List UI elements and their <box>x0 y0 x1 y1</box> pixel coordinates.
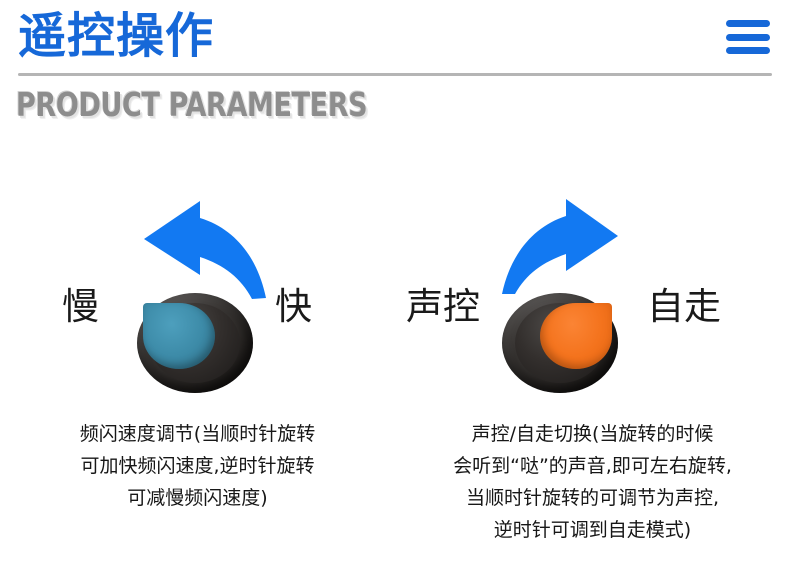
page-header: 遥控操作 <box>0 0 790 76</box>
caption-line: 会听到“哒”的声音,即可左右旋转, <box>395 450 790 482</box>
caption-line: 当顺时针旋转的可调节为声控, <box>395 482 790 514</box>
menu-bar-top <box>726 20 770 27</box>
caption-line: 可加快频闪速度,逆时针旋转 <box>0 450 395 482</box>
rotary-knob-icon[interactable] <box>137 293 253 393</box>
caption-line: 逆时针可调到自走模式) <box>395 514 790 546</box>
knob-pointer <box>540 303 612 369</box>
knob-label-voice-control: 声控 <box>406 285 480 329</box>
rotary-knob-icon[interactable] <box>502 293 618 393</box>
header-divider <box>18 73 772 76</box>
panel-strobe-speed: 慢 快 频闪速度调节(当顺时针旋转 可加快频闪速度,逆时针旋转 可减慢频闪速度) <box>0 150 395 562</box>
panel-voice-auto-switch: 声控 自走 声控/自走切换(当旋转的时候 会听到“哒”的声音,即可左右旋转, 当… <box>395 150 790 562</box>
menu-bar-bottom <box>726 47 770 54</box>
menu-bar-middle <box>726 34 770 41</box>
product-parameters-diagram: 慢 快 频闪速度调节(当顺时针旋转 可加快频闪速度,逆时针旋转 可减慢频闪速度)… <box>0 150 790 562</box>
knob-label-slow: 慢 <box>62 285 99 329</box>
caption-line: 频闪速度调节(当顺时针旋转 <box>0 418 395 450</box>
caption-strobe-speed: 频闪速度调节(当顺时针旋转 可加快频闪速度,逆时针旋转 可减慢频闪速度) <box>0 418 395 514</box>
caption-line: 声控/自走切换(当旋转的时候 <box>395 418 790 450</box>
page-title: 遥控操作 <box>18 6 214 68</box>
curved-arrow-right-icon <box>500 195 620 300</box>
knob-pointer <box>143 303 215 369</box>
section-subtitle: PRODUCT PARAMETERS <box>16 86 367 124</box>
hamburger-menu-icon[interactable] <box>726 20 770 54</box>
caption-line: 可减慢频闪速度) <box>0 482 395 514</box>
knob-label-auto-move: 自走 <box>647 285 721 329</box>
caption-voice-auto-switch: 声控/自走切换(当旋转的时候 会听到“哒”的声音,即可左右旋转, 当顺时针旋转的… <box>395 418 790 546</box>
knob-label-fast: 快 <box>275 285 312 329</box>
curved-arrow-left-icon <box>140 195 270 305</box>
